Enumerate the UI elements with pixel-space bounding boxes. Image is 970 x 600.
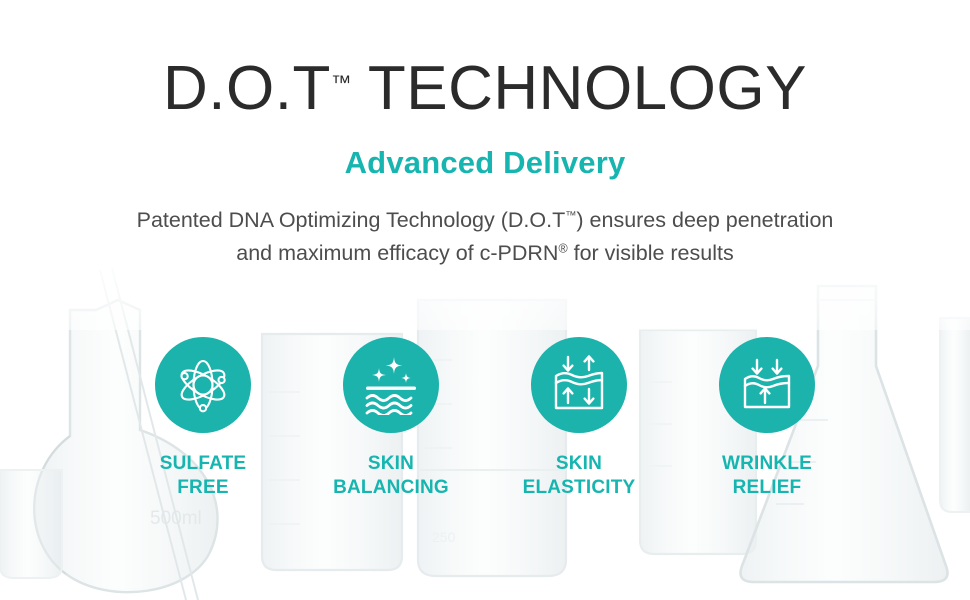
page-subtitle: Advanced Delivery (0, 145, 970, 181)
feature-icon-badge (155, 337, 251, 433)
feature-wrinkle-relief[interactable]: WRINKLE RELIEF (673, 337, 861, 501)
feature-list: SULFATE FREE (0, 337, 970, 501)
trademark-icon: ™ (565, 210, 576, 222)
trademark-icon: ™ (331, 72, 351, 95)
feature-label: WRINKLE RELIEF (722, 452, 812, 501)
elasticity-arrows-icon (550, 355, 608, 415)
feature-skin-balancing[interactable]: SKIN BALANCING (297, 337, 485, 501)
feature-icon-badge (531, 337, 627, 433)
feature-label: SULFATE FREE (160, 452, 247, 501)
description-line-1: Patented DNA Optimizing Technology (D.O.… (0, 204, 970, 237)
page-description: Patented DNA Optimizing Technology (D.O.… (0, 204, 970, 271)
feature-sulfate-free[interactable]: SULFATE FREE (109, 337, 297, 501)
description-line-2: and maximum efficacy of c-PDRN® for visi… (0, 237, 970, 270)
registered-trademark-icon: ® (558, 242, 567, 256)
feature-label: SKIN ELASTICITY (523, 452, 636, 501)
title-main: D.O.T (163, 54, 331, 123)
atom-icon (172, 354, 234, 416)
feature-skin-elasticity[interactable]: SKIN ELASTICITY (485, 337, 673, 501)
absorption-arrows-icon (738, 356, 796, 414)
description-line2-text-b: for visible results (568, 241, 734, 265)
feature-icon-badge (343, 337, 439, 433)
dot-technology-banner: 500ml (0, 0, 970, 600)
description-line1-text-b: ) ensures deep penetration (576, 208, 833, 232)
title-rest: TECHNOLOGY (351, 54, 807, 123)
description-line1-text-a: Patented DNA Optimizing Technology (D.O.… (137, 208, 566, 232)
description-line2-text-a: and maximum efficacy of c-PDRN (236, 241, 558, 265)
feature-label: SKIN BALANCING (333, 452, 449, 501)
page-title: D.O.T™ TECHNOLOGY (0, 58, 970, 120)
sparkles-waves-icon (361, 355, 421, 415)
feature-icon-badge (719, 337, 815, 433)
